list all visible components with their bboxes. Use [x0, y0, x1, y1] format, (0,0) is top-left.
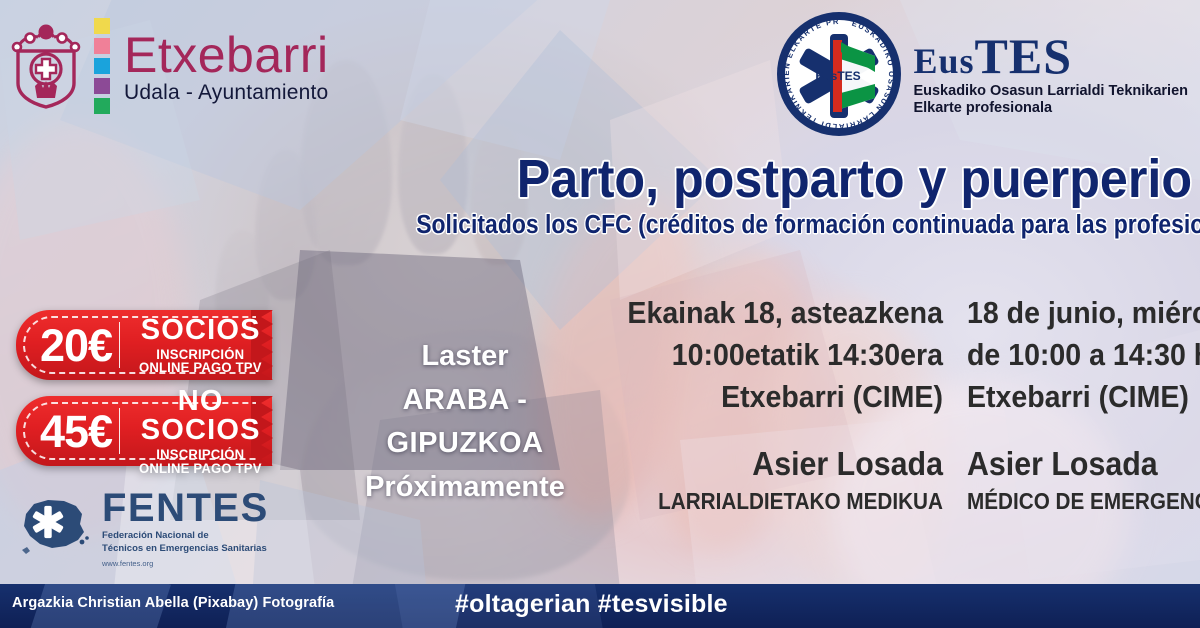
upcoming-line-basque: Laster [335, 335, 595, 379]
headline-block: Parto, postparto y puerperio Solicitados… [330, 152, 1192, 239]
basque-date: Ekainak 18, asteazkena [627, 292, 943, 334]
ticket-text-members: SOCIOS INSCRIPCIÓN ONLINE PAGO TPV [129, 316, 272, 375]
ticket-label-members: SOCIOS [129, 316, 272, 345]
eustes-acronym: EusTES [913, 31, 1188, 82]
page-subtitle: Solicitados los CFC (créditos de formaci… [416, 212, 1192, 239]
fentes-logo: FENTES Federación Nacional de Técnicos e… [18, 488, 269, 567]
swatch-pink [94, 38, 110, 54]
ticket-divider-members [119, 322, 120, 368]
ticket-note-non-members: INSCRIPCIÓN ONLINE PAGO TPV [132, 448, 270, 475]
ticket-text-non-members: NO SOCIOS INSCRIPCIÓN ONLINE PAGO TPV [129, 387, 272, 475]
ticket-price-members: 20€ [16, 323, 112, 368]
etxebarri-wordmark: Etxebarri Udala - Ayuntamiento [124, 30, 329, 103]
eustes-acronym-lead: Eus [913, 41, 974, 81]
basque-time: 10:00etatik 14:30era [627, 334, 943, 376]
social-hashtags: #oltagerian #tesvisible [455, 590, 728, 619]
spanish-role: MÉDICO DE EMERGENCIAS [967, 487, 1200, 516]
eustes-subtitle-line1: Euskadiko Osasun Larrialdi Teknikarien [913, 83, 1188, 100]
swatch-blue [94, 58, 110, 74]
swatch-green [94, 98, 110, 114]
upcoming-locations-block: Laster ARABA - GIPUZKOA Próximamente [335, 335, 595, 509]
swatch-yellow [94, 18, 110, 34]
eustes-star-of-life-icon: EUSKADIKO OSASUN LARRIALDI TEKNIKARIEN E… [775, 10, 903, 138]
info-columns: Ekainak 18, asteazkena 10:00etatik 14:30… [600, 292, 1194, 516]
fentes-subtitle-line2: Técnicos en Emergencias Sanitarias [102, 543, 269, 556]
fentes-spain-map-icon [18, 492, 94, 564]
poster-canvas: Etxebarri Udala - Ayuntamiento EUSKADIKO… [0, 0, 1200, 628]
eustes-emblem-text: EusTES [816, 69, 861, 83]
spanish-time: de 10:00 a 14:30 h [967, 334, 1200, 376]
info-column-basque: Ekainak 18, asteazkena 10:00etatik 14:30… [600, 292, 943, 516]
etxebarri-name: Etxebarri [124, 30, 329, 80]
etxebarri-coat-of-arms-icon [8, 23, 84, 109]
footer-bar: Argazkia Christian Abella (Pixabay) Foto… [0, 584, 1200, 628]
price-ticket-non-members[interactable]: 45€ NO SOCIOS INSCRIPCIÓN ONLINE PAGO TP… [16, 396, 272, 466]
spanish-speaker: Asier Losada [967, 444, 1200, 484]
swatch-purple [94, 78, 110, 94]
basque-venue: Etxebarri (CIME) [627, 376, 943, 418]
page-title: Parto, postparto y puerperio [390, 152, 1192, 206]
photo-credit: Argazkia Christian Abella (Pixabay) Foto… [12, 595, 334, 611]
fentes-wordmark: FENTES Federación Nacional de Técnicos e… [102, 488, 269, 567]
etxebarri-logo: Etxebarri Udala - Ayuntamiento [8, 18, 329, 114]
fentes-name: FENTES [102, 488, 269, 528]
upcoming-provinces: ARABA - GIPUZKOA [335, 379, 595, 466]
eustes-subtitle-line2: Elkarte profesionala [913, 100, 1188, 117]
spanish-venue: Etxebarri (CIME) [967, 376, 1200, 418]
eustes-acronym-tail: TES [975, 28, 1073, 84]
price-ticket-members[interactable]: 20€ SOCIOS INSCRIPCIÓN ONLINE PAGO TPV [16, 310, 272, 380]
etxebarri-color-swatches [94, 18, 110, 114]
basque-role: LARRIALDIETAKO MEDIKUA [634, 487, 943, 516]
spanish-date: 18 de junio, miércoles [967, 292, 1200, 334]
etxebarri-subtitle: Udala - Ayuntamiento [124, 82, 329, 103]
info-column-spanish: 18 de junio, miércoles de 10:00 a 14:30 … [967, 292, 1200, 516]
fentes-subtitle-line1: Federación Nacional de [102, 530, 269, 543]
fentes-subtitle: Federación Nacional de Técnicos en Emerg… [102, 530, 269, 556]
ticket-label-non-members: NO SOCIOS [129, 387, 272, 445]
eustes-logo: EUSKADIKO OSASUN LARRIALDI TEKNIKARIEN E… [775, 10, 1188, 138]
basque-speaker: Asier Losada [627, 444, 943, 484]
eustes-wordmark: EusTES Euskadiko Osasun Larrialdi Teknik… [913, 31, 1188, 118]
upcoming-line-spanish: Próximamente [335, 466, 595, 510]
ticket-note-members: INSCRIPCIÓN ONLINE PAGO TPV [132, 348, 270, 375]
ticket-divider-non-members [119, 408, 120, 454]
eustes-subtitle: Euskadiko Osasun Larrialdi Teknikarien E… [913, 83, 1188, 118]
ticket-price-non-members: 45€ [16, 409, 112, 454]
fentes-url[interactable]: www.fentes.org [102, 560, 269, 568]
